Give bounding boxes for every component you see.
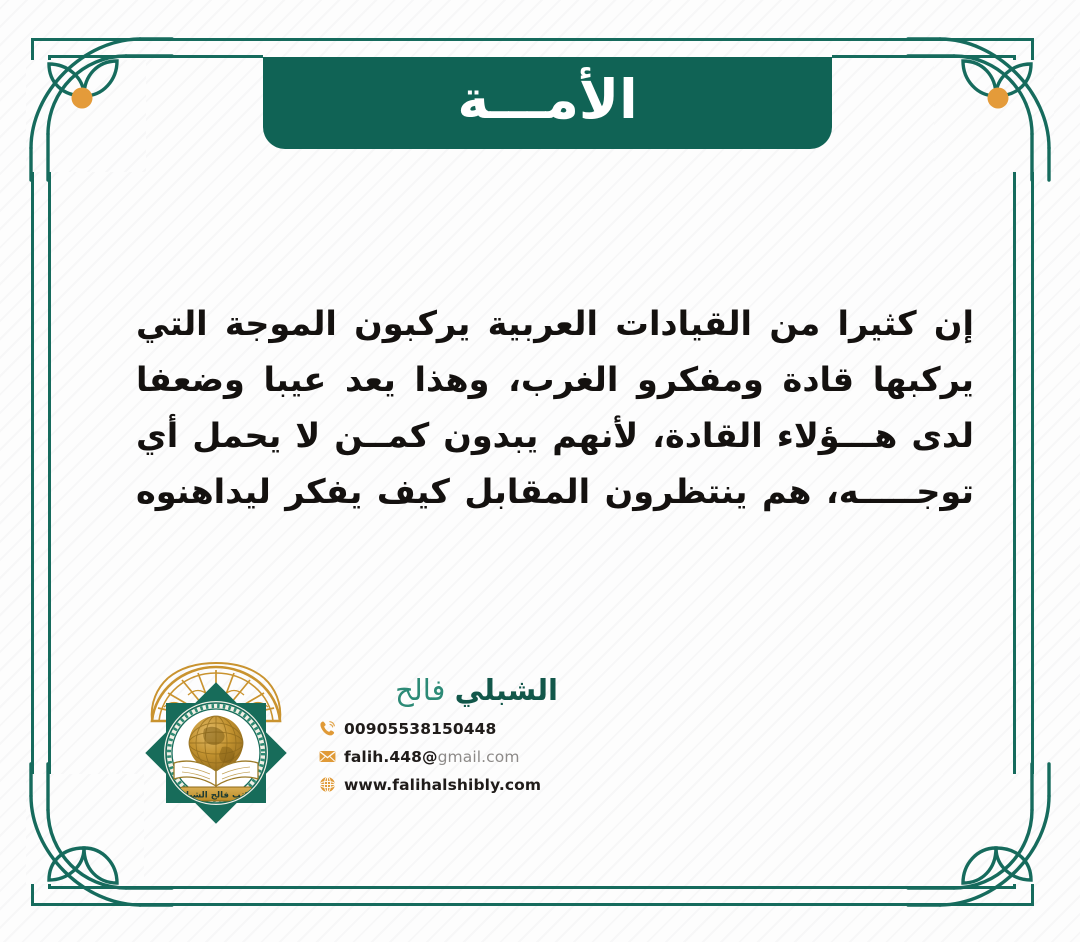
contact-row-phone[interactable]: 00905538150448: [318, 716, 558, 741]
email-address: falih.448@gmail.com: [344, 748, 520, 766]
corner-ornament-top-left: [22, 30, 172, 180]
poster-canvas: الأمـــة إن كثيرا من القيادات العربية ير…: [0, 0, 1080, 942]
contact-details: الشبلي فالح 00905538150448: [318, 673, 558, 800]
quote-body: إن كثيرا من القيادات العربية يركبون المو…: [136, 296, 974, 520]
office-emblem-logo: مكتب فالح الشبلي سياسي – شرعي: [130, 647, 302, 827]
owner-surname: الشبلي: [455, 673, 558, 707]
corner-ornament-bottom-right: [908, 764, 1058, 914]
envelope-icon: [318, 746, 344, 768]
corner-accent-dot: [72, 88, 93, 109]
quote-line: يركبها قادة ومفكرو الغرب، وهذا يعد عيبا …: [136, 352, 974, 408]
website-url: www.falihalshibly.com: [344, 776, 541, 794]
email-domain: gmail.com: [438, 748, 520, 766]
contact-row-website[interactable]: www.falihalshibly.com: [318, 772, 558, 797]
phone-icon: [318, 718, 344, 740]
corner-accent-dot: [988, 88, 1009, 109]
signature-block: مكتب فالح الشبلي سياسي – شرعي الشبلي فال…: [130, 639, 560, 834]
phone-number: 00905538150448: [344, 720, 496, 738]
email-local: falih.448@: [344, 748, 438, 766]
owner-name: الشبلي فالح: [318, 673, 558, 707]
globe-icon: [318, 774, 344, 796]
corner-ornament-top-right: [908, 30, 1058, 180]
title-banner: الأمـــة: [263, 57, 832, 149]
contact-row-email[interactable]: falih.448@gmail.com: [318, 744, 558, 769]
quote-line: لدى هـــؤلاء القادة، لأنهم يبدون كمــن ل…: [136, 408, 974, 464]
owner-firstname: فالح: [395, 673, 445, 707]
quote-line: توجـــــه، هم ينتظرون المقابل كيف يفكر ل…: [136, 464, 974, 520]
quote-line: إن كثيرا من القيادات العربية يركبون المو…: [136, 296, 974, 352]
page-title: الأمـــة: [457, 73, 637, 133]
